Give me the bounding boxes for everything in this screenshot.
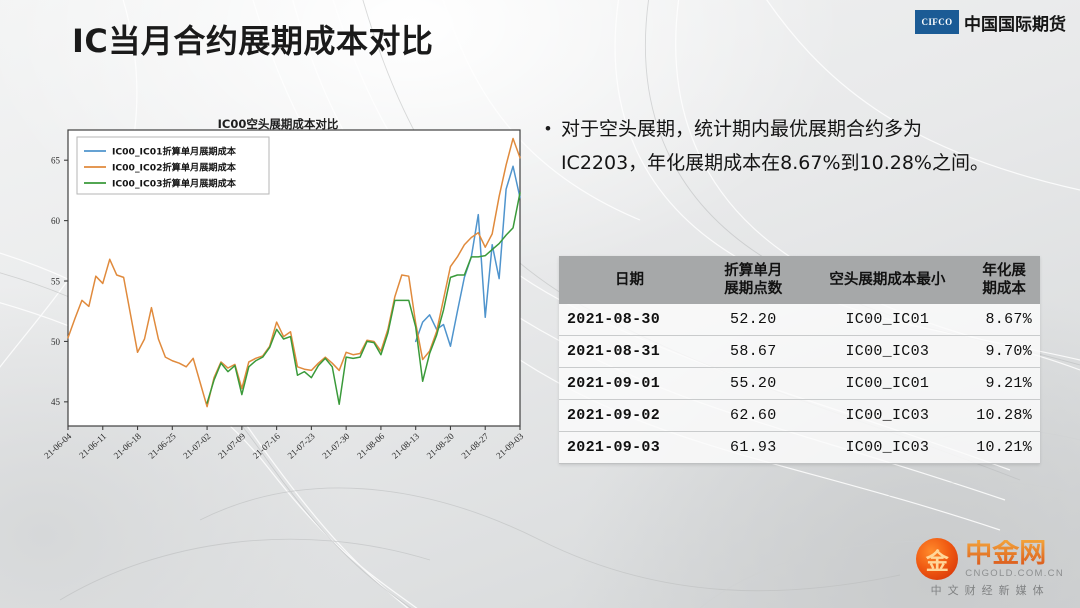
cell-contract: IC00_IC01 bbox=[806, 304, 968, 336]
svg-text:45: 45 bbox=[51, 397, 61, 407]
svg-text:IC00_IC03折算单月展期成本: IC00_IC03折算单月展期成本 bbox=[112, 177, 237, 189]
svg-text:21-07-30: 21-07-30 bbox=[320, 431, 352, 461]
table-row: 2021-09-0361.93IC00_IC0310.21% bbox=[559, 432, 1040, 464]
svg-text:21-07-09: 21-07-09 bbox=[216, 431, 248, 461]
page-title: IC当月合约展期成本对比 bbox=[72, 16, 433, 62]
chart-canvas: 4550556065 21-06-0421-06-1121-06-1821-06… bbox=[18, 104, 538, 484]
cell-rate: 9.70% bbox=[968, 336, 1040, 368]
brand-logo: CIFCO 中国国际期货 bbox=[915, 9, 1066, 35]
cell-points: 55.20 bbox=[700, 368, 806, 400]
cell-date: 2021-08-31 bbox=[559, 336, 700, 368]
svg-text:21-08-27: 21-08-27 bbox=[459, 431, 491, 461]
bullet-line-1: 对于空头展期，统计期内最优展期合约多为 bbox=[561, 112, 989, 146]
bullet-marker-icon: • bbox=[545, 112, 551, 180]
cell-contract: IC00_IC01 bbox=[806, 368, 968, 400]
cell-contract: IC00_IC03 bbox=[806, 432, 968, 464]
cell-date: 2021-09-03 bbox=[559, 432, 700, 464]
svg-text:60: 60 bbox=[51, 216, 61, 226]
svg-text:21-07-16: 21-07-16 bbox=[251, 431, 283, 461]
svg-text:IC00_IC01折算单月展期成本: IC00_IC01折算单月展期成本 bbox=[112, 145, 237, 157]
svg-text:21-08-13: 21-08-13 bbox=[390, 431, 422, 461]
col-header-points-line1: 折算单月 bbox=[708, 262, 798, 280]
col-header-points-line2: 展期点数 bbox=[708, 280, 798, 298]
x-axis: 21-06-0421-06-1121-06-1821-06-2521-07-02… bbox=[42, 426, 526, 461]
svg-text:21-06-25: 21-06-25 bbox=[146, 431, 178, 461]
svg-text:21-09-03: 21-09-03 bbox=[494, 431, 526, 461]
cell-points: 62.60 bbox=[700, 400, 806, 432]
svg-text:21-08-06: 21-08-06 bbox=[355, 431, 387, 461]
col-header-points: 折算单月 展期点数 bbox=[700, 256, 806, 304]
svg-text:21-07-02: 21-07-02 bbox=[181, 431, 212, 461]
cell-rate: 10.21% bbox=[968, 432, 1040, 464]
bullet-line-2: IC2203，年化展期成本在8.67%到10.28%之间。 bbox=[561, 146, 989, 180]
watermark-domain: CNGOLD.COM.CN bbox=[965, 568, 1064, 579]
cell-date: 2021-09-02 bbox=[559, 400, 700, 432]
cell-date: 2021-09-01 bbox=[559, 368, 700, 400]
svg-text:50: 50 bbox=[51, 337, 61, 347]
cell-contract: IC00_IC03 bbox=[806, 336, 968, 368]
slide-header: IC当月合约展期成本对比 CIFCO 中国国际期货 bbox=[0, 0, 1080, 72]
svg-text:21-06-04: 21-06-04 bbox=[42, 431, 74, 461]
table-row: 2021-09-0155.20IC00_IC019.21% bbox=[559, 368, 1040, 400]
cell-date: 2021-08-30 bbox=[559, 304, 700, 336]
chart-legend: IC00_IC01折算单月展期成本IC00_IC02折算单月展期成本IC00_I… bbox=[77, 137, 269, 194]
svg-text:21-06-18: 21-06-18 bbox=[112, 431, 144, 461]
brand-name-label: 中国国际期货 bbox=[964, 10, 1066, 35]
svg-text:21-06-11: 21-06-11 bbox=[77, 431, 108, 460]
table-row: 2021-08-3158.67IC00_IC039.70% bbox=[559, 336, 1040, 368]
table-row: 2021-08-3052.20IC00_IC018.67% bbox=[559, 304, 1040, 336]
col-header-rate: 年化展期成本 bbox=[968, 256, 1040, 304]
cell-rate: 8.67% bbox=[968, 304, 1040, 336]
col-header-date: 日期 bbox=[559, 256, 700, 304]
watermark-title: 中金网 bbox=[965, 540, 1064, 568]
cell-points: 52.20 bbox=[700, 304, 806, 336]
watermark-row: 金 中金网 CNGOLD.COM.CN bbox=[916, 538, 1064, 580]
cngold-watermark: 金 中金网 CNGOLD.COM.CN 中文财经新媒体 bbox=[916, 538, 1064, 598]
cell-points: 58.67 bbox=[700, 336, 806, 368]
svg-text:21-07-23: 21-07-23 bbox=[286, 431, 318, 461]
table-row: 2021-09-0262.60IC00_IC0310.28% bbox=[559, 400, 1040, 432]
col-header-contract: 空头展期成本最小 bbox=[806, 256, 968, 304]
table-body: 2021-08-3052.20IC00_IC018.67%2021-08-315… bbox=[559, 304, 1040, 464]
watermark-text: 中金网 CNGOLD.COM.CN bbox=[965, 540, 1064, 579]
cell-rate: 10.28% bbox=[968, 400, 1040, 432]
bullet-text: 对于空头展期，统计期内最优展期合约多为 IC2203，年化展期成本在8.67%到… bbox=[561, 112, 989, 180]
cell-rate: 9.21% bbox=[968, 368, 1040, 400]
watermark-tagline: 中文财经新媒体 bbox=[931, 582, 1050, 598]
y-axis: 4550556065 bbox=[51, 156, 68, 408]
cell-contract: IC00_IC03 bbox=[806, 400, 968, 432]
svg-text:21-08-20: 21-08-20 bbox=[425, 431, 457, 461]
cell-points: 61.93 bbox=[700, 432, 806, 464]
summary-bullet: • 对于空头展期，统计期内最优展期合约多为 IC2203，年化展期成本在8.67… bbox=[545, 112, 1065, 180]
table-header-row: 日期 折算单月 展期点数 空头展期成本最小 年化展期成本 bbox=[559, 256, 1040, 304]
svg-text:65: 65 bbox=[51, 156, 61, 166]
rollover-summary-table: 日期 折算单月 展期点数 空头展期成本最小 年化展期成本 2021-08-305… bbox=[559, 256, 1040, 464]
svg-text:IC00_IC02折算单月展期成本: IC00_IC02折算单月展期成本 bbox=[112, 161, 237, 173]
cngold-logo-icon: 金 bbox=[916, 538, 958, 580]
rollover-cost-chart: IC00空头展期成本对比 4550556065 21-06-0421-06-11… bbox=[18, 104, 538, 484]
cifco-logo-mark: CIFCO bbox=[915, 10, 959, 34]
svg-text:55: 55 bbox=[51, 276, 61, 286]
